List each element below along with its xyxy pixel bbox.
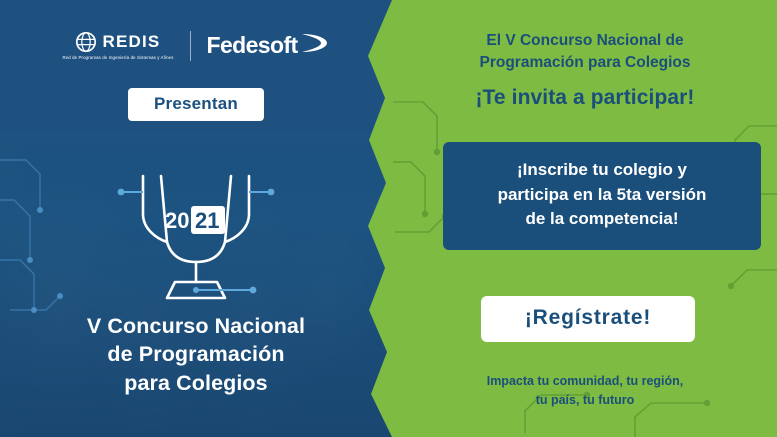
callout-line-3: de la competencia! (457, 207, 747, 232)
fedesoft-logo: Fedesoft (207, 30, 330, 61)
left-title-line-3: para Colegios (0, 369, 392, 397)
presentan-badge: Presentan (128, 88, 264, 121)
left-title-line-1: V Concurso Nacional (0, 312, 392, 340)
callout-line-1: ¡Inscribe tu colegio y (457, 158, 747, 183)
logo-divider (190, 31, 191, 61)
callout-line-2: participa en la 5ta versión (457, 183, 747, 208)
redis-logo: REDIS Red de Programas de Ingeniería de … (62, 31, 173, 60)
fedesoft-swoosh-icon (300, 30, 330, 61)
redis-tagline: Red de Programas de Ingeniería de Sistem… (62, 55, 173, 60)
right-panel: El V Concurso Nacional de Programación p… (365, 0, 777, 437)
right-heading-line-2: Programación para Colegios (399, 52, 771, 74)
footer-line-1: Impacta tu comunidad, tu región, (399, 372, 771, 391)
logo-row: REDIS Red de Programas de Ingeniería de … (0, 30, 392, 61)
poster-canvas: REDIS Red de Programas de Ingeniería de … (0, 0, 777, 437)
redis-globe-icon (75, 31, 97, 53)
left-panel: REDIS Red de Programas de Ingeniería de … (0, 0, 392, 437)
trophy-circuit-icon: 20 21 (101, 158, 291, 313)
callout-box: ¡Inscribe tu colegio y participa en la 5… (443, 142, 761, 250)
footer-line-2: tu país, tu futuro (399, 391, 771, 410)
trophy-year-right: 21 (195, 208, 219, 233)
trophy-year-left: 20 (165, 208, 189, 233)
right-heading-line-1: El V Concurso Nacional de (399, 30, 771, 52)
right-heading: El V Concurso Nacional de Programación p… (399, 30, 771, 74)
footer-tagline: Impacta tu comunidad, tu región, tu país… (399, 372, 771, 410)
register-button[interactable]: ¡Regístrate! (481, 296, 695, 342)
fedesoft-wordmark: Fedesoft (207, 32, 298, 59)
left-title-line-2: de Programación (0, 340, 392, 368)
right-subheading: ¡Te invita a participar! (399, 86, 771, 110)
left-title: V Concurso Nacional de Programación para… (0, 312, 392, 397)
redis-wordmark: REDIS (102, 32, 160, 52)
